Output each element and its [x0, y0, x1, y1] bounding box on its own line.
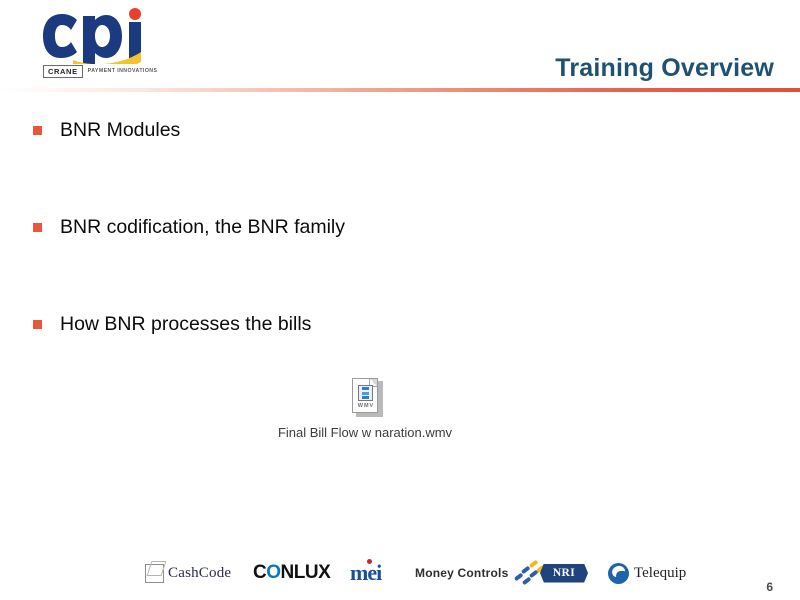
list-item: BNR Modules	[33, 116, 180, 146]
brand-label: Telequip	[634, 565, 686, 582]
film-frame	[362, 387, 369, 390]
list-item: BNR codification, the BNR family	[33, 213, 345, 243]
circle-swirl-icon	[608, 563, 629, 584]
film-frame	[362, 392, 369, 395]
brand-logo-conlux: CONLUX	[253, 556, 330, 590]
footer-brand-strip: CashCode CONLUX mei Money Controls NRI T…	[0, 552, 800, 600]
brand-label: mei	[350, 560, 381, 586]
conlux-accent-o: O	[266, 562, 280, 583]
square-bullet-icon	[33, 320, 42, 329]
square-bullet-icon	[33, 126, 42, 135]
brand-label: CashCode	[168, 565, 231, 582]
brand-logo-telequip: Telequip	[608, 556, 686, 590]
presentation-slide: CRANE PAYMENT INNOVATIONS Training Overv…	[0, 0, 800, 600]
brand-logo-nri: NRI	[540, 556, 588, 590]
film-frame	[362, 396, 369, 399]
cpi-wordmark-icon	[43, 8, 163, 64]
brand-label: NRI	[553, 567, 575, 579]
crane-label: CRANE	[43, 65, 83, 78]
media-object-caption: Final Bill Flow w naration.wmv	[258, 425, 472, 440]
bullet-label: BNR codification, the BNR family	[60, 213, 345, 241]
cpi-logo-subtext: CRANE PAYMENT INNOVATIONS	[43, 64, 157, 78]
wmv-extension-label: WMV	[354, 403, 378, 409]
brand-logo-cashcode: CashCode	[145, 556, 231, 590]
cube-icon	[145, 564, 164, 583]
slide-title: Training Overview	[555, 54, 774, 83]
slide-number: 6	[766, 580, 773, 594]
slide-header: CRANE PAYMENT INNOVATIONS Training Overv…	[0, 0, 800, 95]
bullet-label: How BNR processes the bills	[60, 310, 311, 338]
document-page-shape: WMV	[352, 378, 378, 413]
brand-label: CONLUX	[253, 562, 330, 584]
brand-label: Money Controls	[415, 566, 508, 580]
brand-logo-money-controls: Money Controls	[415, 556, 545, 590]
list-item: How BNR processes the bills	[33, 310, 311, 340]
square-bullet-icon	[33, 223, 42, 232]
wmv-video-file-icon[interactable]: WMV	[352, 378, 384, 418]
hexagon-badge-icon: NRI	[540, 564, 588, 583]
bullet-label: BNR Modules	[60, 116, 180, 144]
film-strip-icon	[358, 385, 373, 401]
payment-innovations-tagline: PAYMENT INNOVATIONS	[88, 68, 158, 74]
conlux-lead: C	[253, 562, 266, 583]
cpi-logo: CRANE PAYMENT INNOVATIONS	[35, 8, 180, 86]
conlux-tail: NLUX	[281, 562, 331, 583]
header-divider	[0, 88, 800, 92]
brand-logo-mei: mei	[350, 556, 381, 590]
embedded-video-object[interactable]: WMV Final Bill Flow w naration.wmv	[258, 378, 472, 444]
mei-wordmark: mei	[350, 560, 381, 585]
